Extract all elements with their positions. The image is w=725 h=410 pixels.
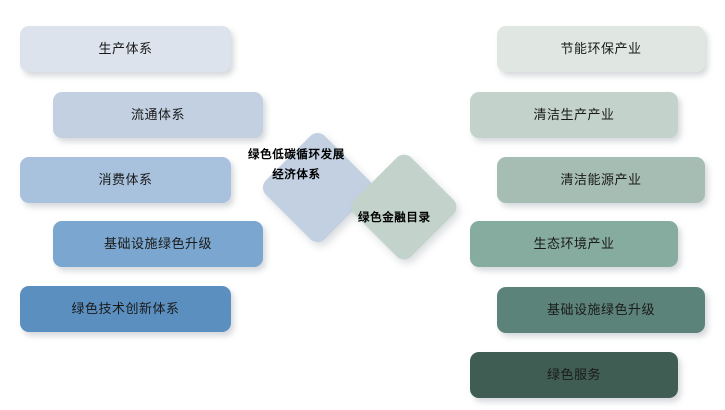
diagram-canvas: 生产体系 流通体系 消费体系 基础设施绿色升级 绿色技术创新体系 节能环保产业 …	[0, 0, 725, 410]
right-item-4-label: 基础设施绿色升级	[547, 302, 655, 318]
left-item-4[interactable]: 绿色技术创新体系	[20, 286, 231, 332]
green-diamond-label: 绿色金融目录	[358, 209, 431, 229]
left-item-3-label: 基础设施绿色升级	[104, 236, 212, 252]
right-item-0[interactable]: 节能环保产业	[497, 26, 705, 72]
right-item-3[interactable]: 生态环境产业	[470, 221, 678, 267]
right-item-1[interactable]: 清洁生产产业	[470, 92, 678, 138]
right-item-0-label: 节能环保产业	[560, 41, 641, 57]
right-item-2-label: 清洁能源产业	[560, 172, 641, 188]
blue-diamond-label: 绿色低碳循环发展经济体系	[248, 146, 345, 185]
right-item-2[interactable]: 清洁能源产业	[497, 157, 705, 203]
right-item-4[interactable]: 基础设施绿色升级	[497, 287, 705, 333]
right-item-5-label: 绿色服务	[547, 367, 601, 383]
left-item-2[interactable]: 消费体系	[20, 157, 231, 203]
right-item-5[interactable]: 绿色服务	[470, 352, 678, 398]
diamond-label-line: 绿色低碳循环发展	[248, 146, 345, 166]
left-item-1[interactable]: 流通体系	[53, 92, 263, 138]
right-item-1-label: 清洁生产产业	[533, 107, 614, 123]
left-item-4-label: 绿色技术创新体系	[71, 301, 179, 317]
right-item-3-label: 生态环境产业	[533, 236, 614, 252]
left-item-0-label: 生产体系	[98, 41, 152, 57]
diamond-label-line: 绿色金融目录	[358, 209, 431, 229]
diamond-label-line: 经济体系	[248, 166, 345, 186]
left-item-1-label: 流通体系	[131, 107, 185, 123]
left-item-0[interactable]: 生产体系	[20, 26, 231, 72]
left-item-3[interactable]: 基础设施绿色升级	[53, 221, 263, 267]
left-item-2-label: 消费体系	[98, 172, 152, 188]
green-diamond[interactable]	[347, 150, 460, 263]
